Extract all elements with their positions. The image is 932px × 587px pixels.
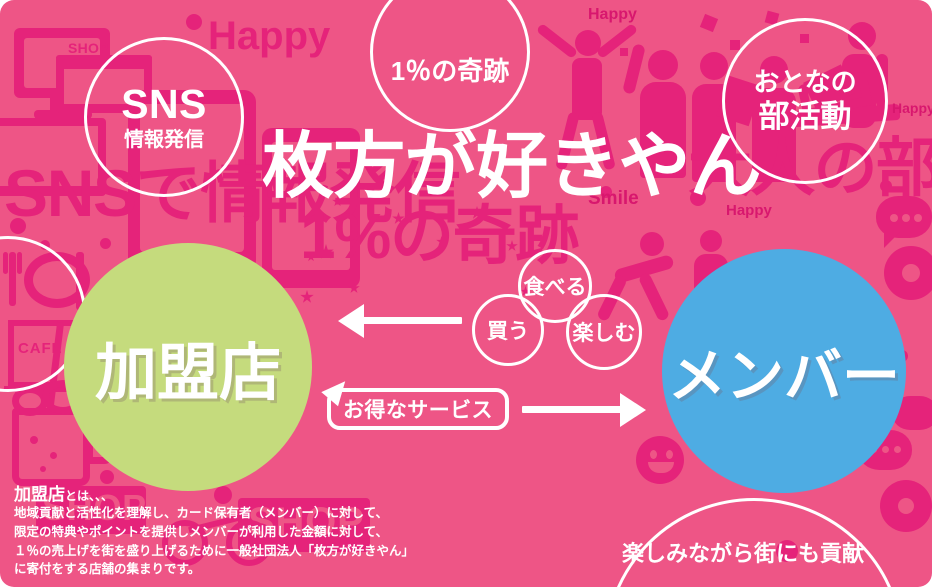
page-title-text: 枚方が好きやん [262,127,761,207]
right-arrow-shaft [522,406,624,413]
mini-circle-enjoy-label: 楽しむ [573,317,636,347]
service-badge[interactable]: お得なサービス [327,388,509,430]
member-circle[interactable]: メンバー [662,249,906,493]
poster-root: SHOP CAFE SHOP SHOP [0,0,932,587]
miracle-bubble-line1: 1％の奇跡 [391,57,509,86]
mini-circle-enjoy[interactable]: 楽しむ [566,294,642,370]
club-bubble-line2: 部活動 [759,100,852,135]
page-title: 枚方が好きやん [262,131,761,203]
left-arrow-shaft [362,317,462,324]
miracle-bubble[interactable]: 1％の奇跡 [370,0,530,132]
service-badge-label: お得なサービス [343,394,493,424]
sns-bubble-line1: SNS [121,82,207,128]
note-body: 地域貢献と活性化を理解し、カード保有者（メンバー）に対して、 限定の特典やポイン… [14,504,414,579]
mini-circle-buy-label: 買う [487,315,529,345]
merchant-circle[interactable]: 加盟店 [64,243,312,491]
contribution-label: 楽しみながら街にも貢献 [622,536,864,568]
sns-bubble[interactable]: SNS 情報発信 [84,37,244,197]
note-heading-strong: 加盟店 [14,485,65,504]
club-bubble[interactable]: おとなの 部活動 [722,18,888,184]
foreground-layer: 加盟店 メンバー 枚方が好きやん SNS 情報発信 1％の奇跡 おとなの 部活動… [0,0,932,587]
note-heading-rest: とは、、、 [65,489,113,503]
member-circle-label: メンバー [668,329,900,413]
right-arrow-head [620,393,646,427]
club-bubble-line1: おとなの [753,68,856,97]
mini-circle-eat-label: 食べる [524,271,587,301]
note-heading: 加盟店とは、、、 [14,480,113,505]
left-arrow-head [338,304,364,338]
merchant-circle-label: 加盟店 [95,322,281,412]
sns-bubble-line2: 情報発信 [124,129,204,151]
mini-circle-buy[interactable]: 買う [472,294,544,366]
